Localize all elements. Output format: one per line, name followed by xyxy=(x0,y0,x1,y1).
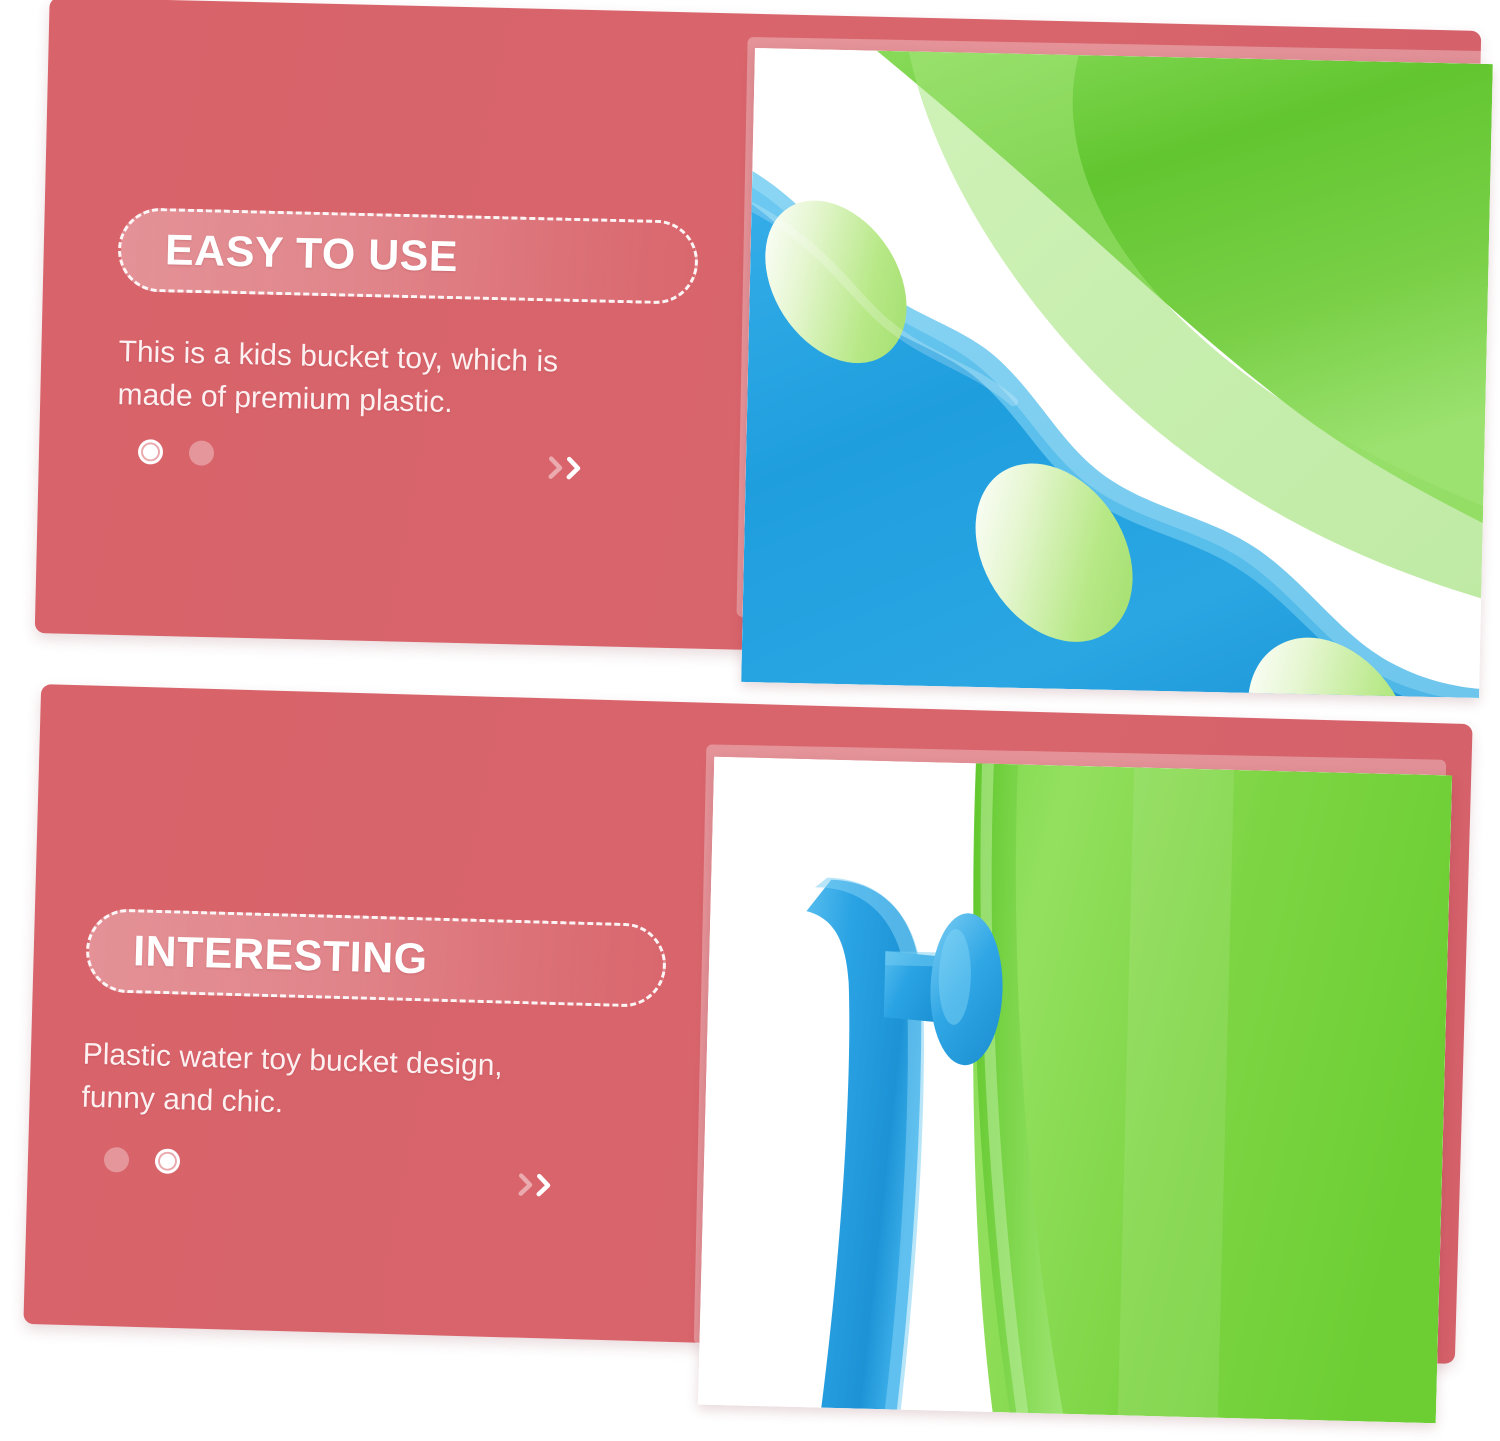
pagination-dot-2[interactable] xyxy=(189,440,215,466)
bucket-wall-highlight xyxy=(1117,757,1235,1423)
product-photo-handle-grip xyxy=(741,48,1493,698)
product-photo-frame xyxy=(698,757,1452,1423)
product-photo-handle-pivot xyxy=(698,757,1452,1423)
feature-card-easy-to-use[interactable]: EASY TO USE This is a kids bucket toy, w… xyxy=(0,0,1500,700)
bucket-handle-grip-illustration xyxy=(741,48,1493,698)
next-slide-button[interactable] xyxy=(518,1172,553,1199)
pagination-dot-2[interactable] xyxy=(155,1148,181,1174)
badge-label: EASY TO USE xyxy=(164,226,458,282)
pagination-dot-1[interactable] xyxy=(104,1147,130,1173)
badge-interesting: INTERESTING xyxy=(85,908,667,1008)
pagination-dot-1[interactable] xyxy=(138,439,164,465)
chevron-right-icon-dim xyxy=(548,455,565,481)
card-description: Plastic water toy bucket design, funny a… xyxy=(81,1034,683,1136)
page-root: EASY TO USE This is a kids bucket toy, w… xyxy=(0,0,1500,1441)
product-photo-frame xyxy=(741,48,1493,698)
chevron-right-icon-dim xyxy=(518,1172,535,1198)
chevron-right-icon-bright xyxy=(566,455,583,481)
pagination-dots[interactable] xyxy=(138,439,215,466)
badge-easy-to-use: EASY TO USE xyxy=(117,207,699,305)
next-slide-button[interactable] xyxy=(548,455,583,482)
chevron-right-icon-bright xyxy=(536,1172,553,1198)
card-description: This is a kids bucket toy, which is made… xyxy=(117,331,699,430)
bucket-handle-pivot-illustration xyxy=(698,757,1452,1423)
pagination-dots[interactable] xyxy=(104,1147,181,1174)
badge-label: INTERESTING xyxy=(132,927,428,984)
